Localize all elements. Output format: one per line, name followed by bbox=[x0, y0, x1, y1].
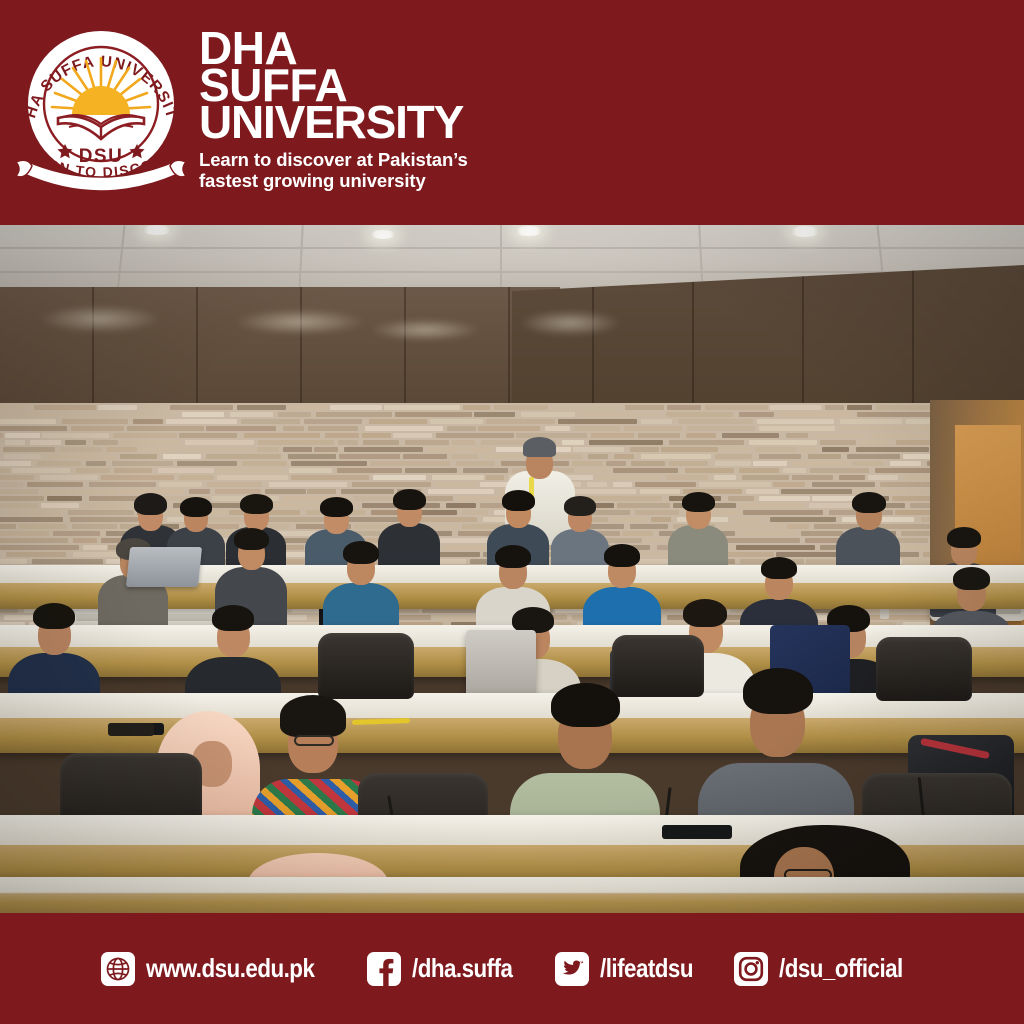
twitter-label: /lifeatdsu bbox=[600, 953, 693, 984]
brand-tagline: Learn to discover at Pakistan’s fastest … bbox=[199, 149, 529, 191]
upper-wood-wall bbox=[0, 287, 560, 407]
instagram-label: /dsu_official bbox=[779, 953, 903, 984]
ceiling-light bbox=[515, 226, 543, 236]
header-bar: DHA SUFFA UNIVERSITY bbox=[0, 0, 1024, 225]
photo-scene bbox=[0, 225, 1024, 913]
person bbox=[668, 491, 728, 573]
desk-tier-0 bbox=[0, 877, 1024, 913]
twitter-icon bbox=[555, 952, 589, 986]
facebook-label: /dha.suffa bbox=[412, 953, 512, 984]
social-link-website[interactable]: www.dsu.edu.pk bbox=[101, 952, 342, 986]
event-photo bbox=[0, 225, 1024, 913]
social-link-instagram[interactable]: /dsu_official bbox=[734, 952, 923, 986]
poster-canvas: DHA SUFFA UNIVERSITY bbox=[0, 0, 1024, 1024]
dsu-seal-logo: DHA SUFFA UNIVERSITY bbox=[8, 14, 194, 200]
social-links-row: www.dsu.edu.pk /dha.suffa bbox=[101, 952, 924, 986]
ceiling-light bbox=[370, 230, 396, 239]
website-label: www.dsu.edu.pk bbox=[146, 953, 314, 984]
brand-line-3: UNIVERSITY bbox=[199, 104, 719, 141]
microphone bbox=[108, 723, 154, 736]
ceiling-light bbox=[790, 226, 820, 237]
social-link-facebook[interactable]: /dha.suffa bbox=[367, 952, 529, 986]
globe-icon bbox=[101, 952, 135, 986]
instagram-icon bbox=[734, 952, 768, 986]
facebook-icon bbox=[367, 952, 401, 986]
ceiling-light bbox=[142, 225, 172, 235]
brand-title-block: DHA SUFFA UNIVERSITY Learn to discover a… bbox=[199, 30, 719, 191]
phone bbox=[662, 825, 732, 839]
laptop bbox=[126, 547, 202, 587]
chair bbox=[876, 637, 972, 701]
dsu-seal-logo-graphic: DHA SUFFA UNIVERSITY bbox=[8, 14, 194, 200]
footer-bar: www.dsu.edu.pk /dha.suffa bbox=[0, 913, 1024, 1024]
social-link-twitter[interactable]: /lifeatdsu bbox=[555, 952, 708, 986]
